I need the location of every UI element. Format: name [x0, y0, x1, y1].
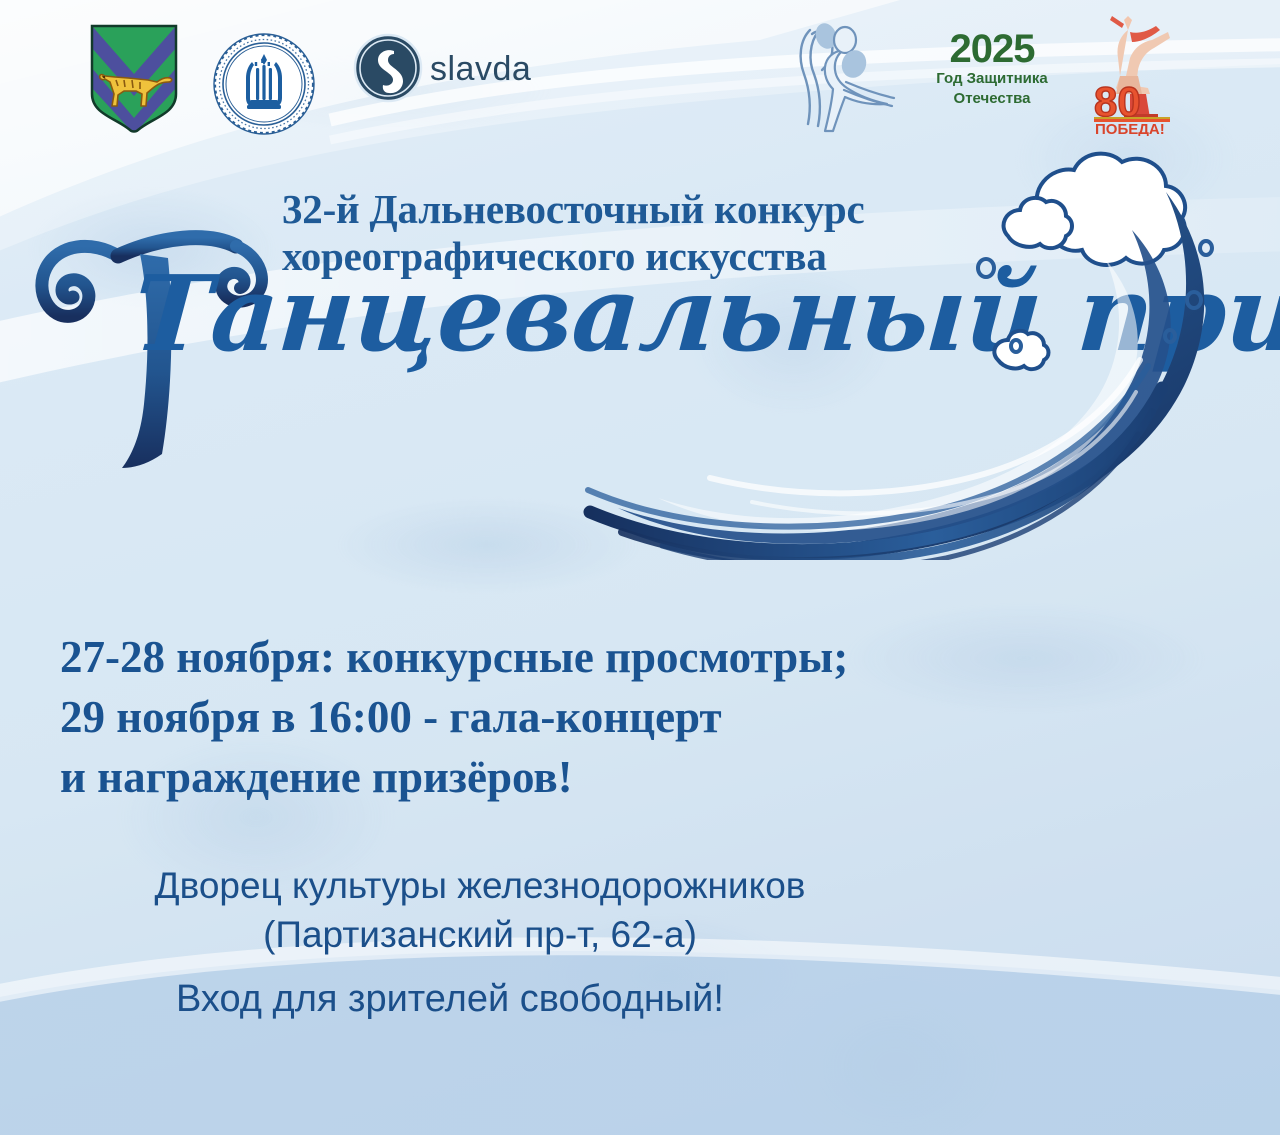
year-badge-line2: Отечества [918, 91, 1066, 108]
dancing-couple-icon [782, 12, 900, 134]
admission-note: Вход для зрителей свободный! [0, 978, 900, 1021]
primorsky-coat-of-arms-icon [88, 22, 180, 134]
venue-line-1: Дворец культуры железнодорожников [0, 862, 960, 911]
sponsor-logo-strip: slavda 2025 Год Защитника Отечества [0, 0, 1280, 142]
year-of-defender-badge: 2025 Год Защитника Отечества [918, 30, 1066, 122]
victory-label: ПОБЕДА! [1095, 121, 1165, 136]
year-number: 2025 [918, 30, 1066, 68]
slavda-logo-icon [352, 32, 424, 104]
venue-line-2: (Партизанский пр-т, 62-а) [0, 911, 960, 960]
victory-80-badge-icon: 80 ПОБЕДА! [1090, 14, 1182, 136]
schedule-line-1: 27-28 ноября: конкурсные просмотры; [60, 628, 1070, 688]
poster-canvas: slavda 2025 Год Защитника Отечества [0, 0, 1280, 1135]
schedule-line-2: 29 ноября в 16:00 - гала-концерт [60, 688, 1070, 748]
schedule-block: 27-28 ноября: конкурсные просмотры; 29 н… [60, 628, 1070, 808]
folk-culture-center-seal-icon [212, 32, 316, 136]
year-badge-line1: Год Защитника [918, 71, 1066, 88]
schedule-line-3: и награждение призёров! [60, 748, 1070, 808]
wave-logo-artwork [570, 140, 1230, 560]
slavda-wordmark: slavda [430, 50, 531, 89]
venue-block: Дворец культуры железнодорожников (Парти… [0, 862, 960, 960]
